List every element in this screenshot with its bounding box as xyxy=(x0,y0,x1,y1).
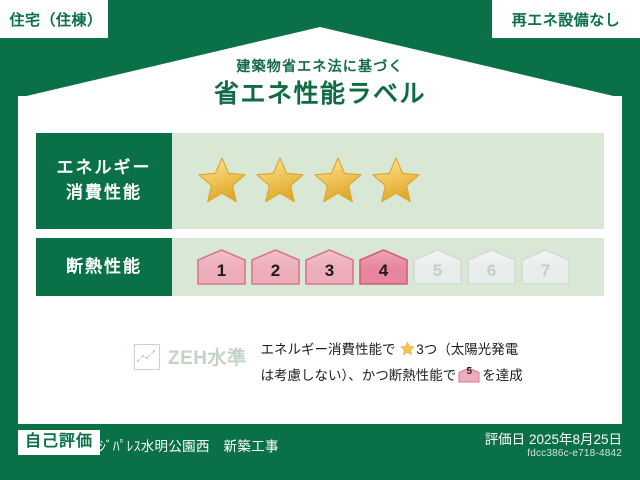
row-insulation-label: 断熱性能 xyxy=(36,238,172,296)
insulation-level-scale: 1234567 xyxy=(196,248,571,286)
self-evaluation-badge: 自己評価 xyxy=(18,430,100,455)
zeh-note-line-1: エネルギー消費性能で 3つ（太陽光発電 xyxy=(261,338,523,364)
label-title-block: 建築物省エネ法に基づく 省エネ性能ラベル xyxy=(0,58,640,110)
insulation-level-number: 6 xyxy=(487,262,496,286)
star-icon xyxy=(254,155,306,207)
insulation-level-chip: 6 xyxy=(466,248,517,286)
insulation-level-chip: 2 xyxy=(250,248,301,286)
insulation-level-chip: 5 xyxy=(412,248,463,286)
zeh-note-line1-after: 3つ（太陽光発電 xyxy=(416,342,518,357)
project-name: ﾌｼﾞﾊﾟﾚｽ水明公園西 新築工事 xyxy=(92,435,279,455)
tag-renewable-equipment: 再エネ設備なし xyxy=(492,0,640,38)
star-icon xyxy=(370,155,422,207)
title-subtitle: 建築物省エネ法に基づく xyxy=(0,58,640,75)
zeh-badge-label: ZEH水準 xyxy=(168,343,247,370)
tag-building-type: 住宅（住棟） xyxy=(0,0,108,38)
insulation-level-number: 3 xyxy=(325,262,334,286)
star-rating xyxy=(196,155,422,207)
zeh-chart-icon xyxy=(134,344,160,370)
inline-insulation-chip-icon: 5 xyxy=(458,367,480,383)
insulation-level-chip: 7 xyxy=(520,248,571,286)
inline-chip-number: 5 xyxy=(458,367,480,383)
row-insulation-performance: 断熱性能 1234567 xyxy=(36,238,604,296)
row-energy-label-line2: 消費性能 xyxy=(66,181,142,206)
zeh-note-line2-before: は考慮しない）、かつ断熱性能で xyxy=(261,368,457,383)
label-footer: 自己評価 ﾌｼﾞﾊﾟﾚｽ水明公園西 新築工事 評価日 2025年8月25日 fd… xyxy=(0,424,640,480)
evaluation-date: 評価日 2025年8月25日 xyxy=(485,428,622,448)
energy-performance-label: 住宅（住棟） 再エネ設備なし 建築物省エネ法に基づく 省エネ性能ラベル エネルギ… xyxy=(0,0,640,480)
zeh-badge: ZEH水準 xyxy=(134,343,247,370)
performance-rows: エネルギー 消費性能 断熱性能 1234567 xyxy=(36,133,604,305)
zeh-note-line2-after: を達成 xyxy=(482,368,523,383)
zeh-note-line1-before: エネルギー消費性能で xyxy=(261,342,396,357)
star-icon xyxy=(196,155,248,207)
insulation-level-chip: 1 xyxy=(196,248,247,286)
row-energy-label-line1: エネルギー xyxy=(57,156,152,181)
row-energy-label: エネルギー 消費性能 xyxy=(36,133,172,229)
row-insulation-label-line1: 断熱性能 xyxy=(66,255,142,280)
evaluation-id: fdcc386c-e718-4842 xyxy=(527,448,622,459)
insulation-level-number: 4 xyxy=(379,262,388,286)
inline-star-icon xyxy=(397,344,416,359)
row-energy-body xyxy=(172,133,604,229)
insulation-level-number: 7 xyxy=(541,262,550,286)
insulation-level-chip: 4 xyxy=(358,248,409,286)
page-title: 省エネ性能ラベル xyxy=(0,79,640,110)
zeh-note-text: エネルギー消費性能で 3つ（太陽光発電 は考慮しない）、かつ断熱性能で 5 を達… xyxy=(261,338,523,387)
insulation-level-number: 5 xyxy=(433,262,442,286)
insulation-level-number: 1 xyxy=(217,262,226,286)
star-icon xyxy=(312,155,364,207)
zeh-note-line-2: は考慮しない）、かつ断熱性能で 5 を達成 xyxy=(261,364,523,388)
row-insulation-body: 1234567 xyxy=(172,238,604,296)
row-energy-performance: エネルギー 消費性能 xyxy=(36,133,604,229)
insulation-level-number: 2 xyxy=(271,262,280,286)
insulation-level-chip: 3 xyxy=(304,248,355,286)
zeh-note: ZEH水準 エネルギー消費性能で 3つ（太陽光発電 は考慮しない）、かつ断熱性能… xyxy=(134,338,523,387)
